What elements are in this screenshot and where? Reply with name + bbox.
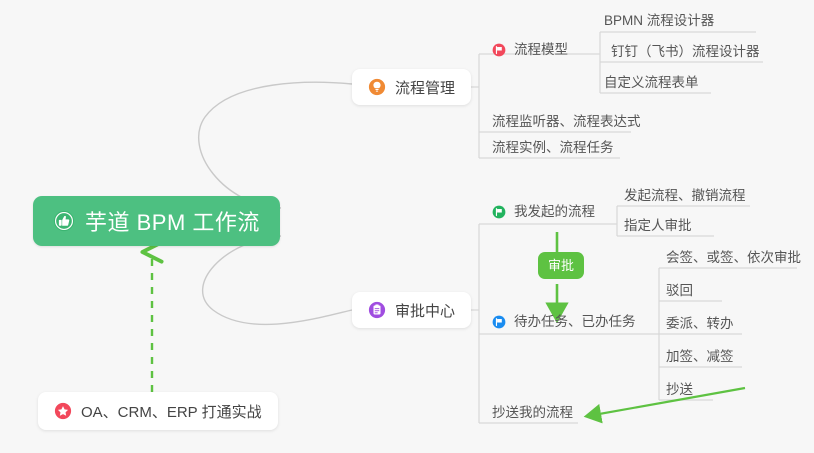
- node-label-start-cancel-process: 发起流程、撤销流程: [624, 188, 746, 203]
- edge-root-to-process-management: [199, 82, 352, 208]
- thumbs-up-icon: [53, 210, 75, 232]
- footer-node-integration[interactable]: OA、CRM、ERP 打通实战: [38, 392, 278, 430]
- approval-badge[interactable]: 审批: [538, 252, 584, 279]
- flag-icon: [492, 43, 506, 57]
- star-icon: [54, 402, 72, 420]
- node-reject[interactable]: 驳回: [666, 282, 693, 304]
- node-process-instance[interactable]: 流程实例、流程任务: [492, 139, 614, 161]
- node-label-custom-process-form: 自定义流程表单: [604, 75, 699, 90]
- node-label-process-listener: 流程监听器、流程表达式: [492, 114, 641, 129]
- root-label: 芋道 BPM 工作流: [85, 205, 260, 237]
- edge-root-to-approval-center: [203, 236, 352, 324]
- node-delegate-transfer[interactable]: 委派、转办: [666, 315, 734, 337]
- node-process-listener[interactable]: 流程监听器、流程表达式: [492, 113, 641, 135]
- root-node[interactable]: 芋道 BPM 工作流: [33, 196, 280, 246]
- node-label-cc-to-me: 抄送我的流程: [492, 405, 573, 420]
- node-label-todo-done-tasks: 待办任务、已办任务: [514, 313, 636, 330]
- node-add-remove-sign[interactable]: 加签、减签: [666, 348, 734, 370]
- flag-icon: [492, 315, 506, 329]
- node-bpmn-designer[interactable]: BPMN 流程设计器: [604, 12, 714, 34]
- branch-node-process-management[interactable]: 流程管理: [352, 69, 471, 105]
- node-label-process-instance: 流程实例、流程任务: [492, 140, 614, 155]
- node-label-cc: 抄送: [666, 382, 693, 397]
- node-label-dingtalk-designer: 钉钉（飞书）流程设计器: [611, 44, 760, 59]
- node-process-model[interactable]: 流程模型: [492, 41, 568, 63]
- node-countersign[interactable]: 会签、或签、依次审批: [666, 249, 801, 271]
- node-my-started-processes[interactable]: 我发起的流程: [492, 203, 595, 225]
- node-label-bpmn-designer: BPMN 流程设计器: [604, 13, 714, 28]
- node-label-assignee-approval: 指定人审批: [624, 218, 692, 233]
- node-label-reject: 驳回: [666, 283, 693, 298]
- node-start-cancel-process[interactable]: 发起流程、撤销流程: [624, 187, 746, 209]
- node-custom-process-form[interactable]: 自定义流程表单: [604, 74, 699, 96]
- node-dingtalk-designer[interactable]: 钉钉（飞书）流程设计器: [611, 43, 760, 65]
- node-label-my-started-processes: 我发起的流程: [514, 203, 595, 220]
- mindmap-canvas: 芋道 BPM 工作流 流程管理 流程模型 BPMN 流程设计器 钉钉（飞书）流程: [0, 0, 814, 453]
- node-todo-done-tasks[interactable]: 待办任务、已办任务: [492, 313, 636, 335]
- footer-node-label: OA、CRM、ERP 打通实战: [81, 401, 262, 422]
- branch-label-process-management: 流程管理: [395, 77, 455, 98]
- node-assignee-approval[interactable]: 指定人审批: [624, 217, 692, 239]
- branch-label-approval-center: 审批中心: [395, 300, 455, 321]
- node-label-process-model: 流程模型: [514, 41, 568, 58]
- node-label-countersign: 会签、或签、依次审批: [666, 250, 801, 265]
- node-cc-to-me[interactable]: 抄送我的流程: [492, 404, 573, 426]
- lightbulb-icon: [368, 78, 386, 96]
- clipboard-icon: [368, 301, 386, 319]
- node-label-delegate-transfer: 委派、转办: [666, 316, 734, 331]
- node-label-add-remove-sign: 加签、减签: [666, 349, 734, 364]
- node-cc[interactable]: 抄送: [666, 381, 693, 403]
- flag-icon: [492, 205, 506, 219]
- branch-node-approval-center[interactable]: 审批中心: [352, 292, 471, 328]
- approval-badge-label: 审批: [548, 258, 574, 273]
